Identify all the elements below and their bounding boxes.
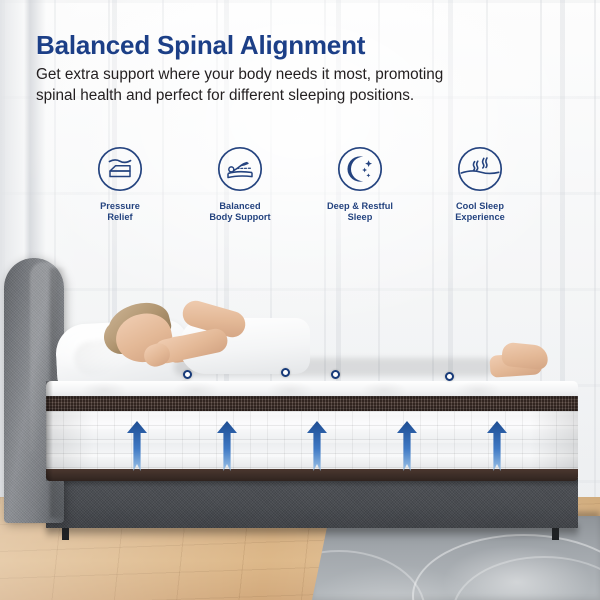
mattress-pressure-icon	[97, 146, 143, 192]
alignment-dot	[183, 370, 192, 379]
support-arrow	[126, 421, 148, 471]
subtitle-line-1: Get extra support where your body needs …	[36, 64, 526, 85]
feature-label-line-1: Deep & Restful	[327, 201, 393, 212]
feature-list: Pressure Relief Balanced Body Support	[60, 146, 540, 242]
feature-label-line-2: Body Support	[209, 212, 270, 223]
feature-label: Cool Sleep Experience	[455, 201, 505, 224]
bed-base	[46, 478, 578, 528]
alignment-dot	[445, 372, 454, 381]
feature-cool-sleep-experience[interactable]: Cool Sleep Experience	[420, 146, 540, 242]
alignment-dot	[281, 368, 290, 377]
support-arrow	[306, 421, 328, 471]
feature-label: Deep & Restful Sleep	[327, 201, 393, 224]
feature-label-line-1: Pressure	[100, 201, 140, 212]
feature-label-line-2: Relief	[100, 212, 140, 223]
page-subtitle: Get extra support where your body needs …	[36, 64, 526, 106]
support-arrow	[396, 421, 418, 471]
feature-label: Balanced Body Support	[209, 201, 270, 224]
mattress-mesh-band	[46, 396, 578, 411]
feature-pressure-relief[interactable]: Pressure Relief	[60, 146, 180, 242]
support-arrow	[216, 421, 238, 471]
sleeping-woman	[104, 296, 534, 382]
feature-balanced-body-support[interactable]: Balanced Body Support	[180, 146, 300, 242]
product-feature-image: Balanced Spinal Alignment Get extra supp…	[0, 0, 600, 600]
feature-label-line-1: Cool Sleep	[455, 201, 505, 212]
feature-label: Pressure Relief	[100, 201, 140, 224]
support-arrow	[486, 421, 508, 471]
alignment-dot	[331, 370, 340, 379]
subtitle-line-2: spinal health and perfect for different …	[36, 85, 526, 106]
feature-label-line-2: Experience	[455, 212, 505, 223]
crescent-moon-stars-icon	[337, 146, 383, 192]
feature-label-line-2: Sleep	[327, 212, 393, 223]
airflow-waves-icon	[457, 146, 503, 192]
page-title: Balanced Spinal Alignment	[36, 30, 365, 61]
person-on-mattress-icon	[217, 146, 263, 192]
mattress-left-edge-shadow	[46, 381, 53, 481]
feature-label-line-1: Balanced	[209, 201, 270, 212]
feature-deep-restful-sleep[interactable]: Deep & Restful Sleep	[300, 146, 420, 242]
